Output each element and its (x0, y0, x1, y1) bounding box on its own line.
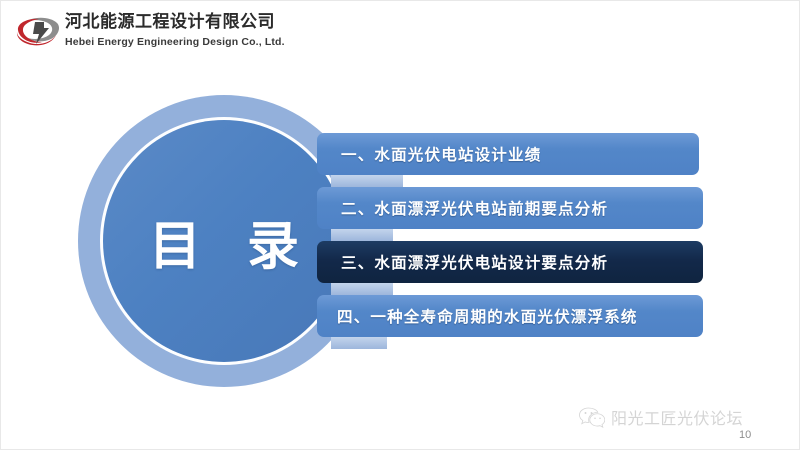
company-name-cn: 河北能源工程设计有限公司 (65, 12, 285, 32)
toc-title: 目 录 (103, 120, 345, 362)
toc-menu-list: 一、水面光伏电站设计业绩 二、水面漂浮光伏电站前期要点分析 三、水面漂浮光伏电站… (317, 133, 717, 343)
toc-item-2-label: 二、水面漂浮光伏电站前期要点分析 (341, 197, 608, 219)
circle-inner-disc: 目 录 (103, 120, 345, 362)
toc-item-3-tab-strip (331, 283, 393, 295)
toc-item-1-bar[interactable]: 一、水面光伏电站设计业绩 (317, 133, 699, 175)
toc-item-4-tab-strip (331, 337, 387, 349)
toc-item-4-label: 四、一种全寿命周期的水面光伏漂浮系统 (337, 305, 638, 327)
company-name-en: Hebei Energy Engineering Design Co., Ltd… (65, 35, 285, 49)
company-swoosh-logo-icon (13, 13, 61, 51)
slide-header: 河北能源工程设计有限公司 Hebei Energy Engineering De… (1, 1, 800, 63)
page-number: 10 (739, 429, 751, 441)
toc-item-1-label: 一、水面光伏电站设计业绩 (341, 143, 541, 165)
presentation-slide: 河北能源工程设计有限公司 Hebei Energy Engineering De… (0, 0, 800, 450)
toc-item-3-bar[interactable]: 三、水面漂浮光伏电站设计要点分析 (317, 241, 703, 283)
company-name-block: 河北能源工程设计有限公司 Hebei Energy Engineering De… (65, 12, 285, 49)
watermark-label: 阳光工匠光伏论坛 (611, 405, 743, 429)
forum-watermark: 阳光工匠光伏论坛 (579, 405, 743, 429)
toc-item-2-bar[interactable]: 二、水面漂浮光伏电站前期要点分析 (317, 187, 703, 229)
toc-item-4-bar[interactable]: 四、一种全寿命周期的水面光伏漂浮系统 (317, 295, 703, 337)
toc-item-2-tab-strip (331, 229, 393, 241)
toc-item-3-label: 三、水面漂浮光伏电站设计要点分析 (341, 251, 608, 273)
toc-item-1-tab-strip (331, 175, 403, 187)
wechat-icon (579, 406, 605, 428)
